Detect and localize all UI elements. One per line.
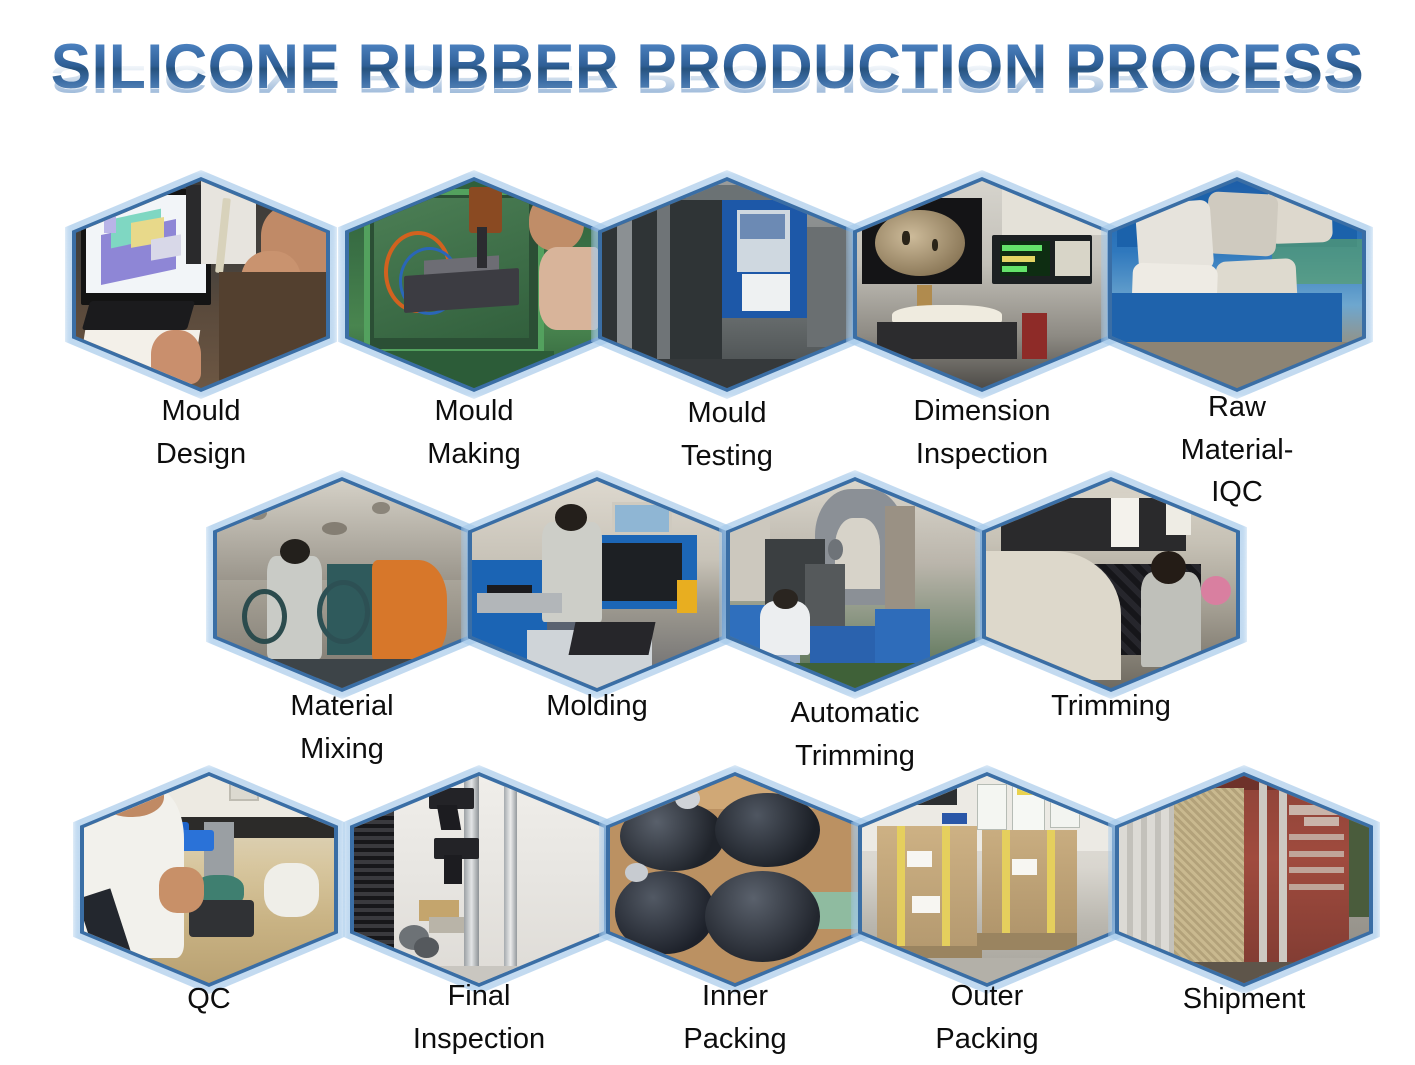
process-step-dimension-inspection[interactable] (853, 177, 1111, 392)
process-step-raw-material-iqc[interactable] (1108, 177, 1366, 392)
process-step-mould-making[interactable] (345, 177, 603, 392)
process-step-label: Automatic Trimming (726, 692, 984, 777)
process-step-outer-packing[interactable] (858, 772, 1116, 987)
process-step-label: Mould Design (72, 390, 330, 475)
process-step-trimming[interactable] (982, 477, 1240, 692)
process-step-label: Mould Making (345, 390, 603, 475)
process-step-mould-testing[interactable] (598, 177, 856, 392)
process-step-label: Mould Testing (598, 392, 856, 477)
process-step-automatic-trimming[interactable] (726, 477, 984, 692)
process-step-molding[interactable] (468, 477, 726, 692)
process-step-qc[interactable] (80, 772, 338, 987)
process-step-final-inspection[interactable] (350, 772, 608, 987)
process-step-label: Dimension Inspection (853, 390, 1111, 475)
process-step-mould-design[interactable] (72, 177, 330, 392)
process-step-shipment[interactable] (1115, 772, 1373, 987)
process-step-material-mixing[interactable] (213, 477, 471, 692)
process-step-inner-packing[interactable] (606, 772, 864, 987)
process-flow-diagram: Mould Design Mould Making (0, 0, 1415, 1065)
